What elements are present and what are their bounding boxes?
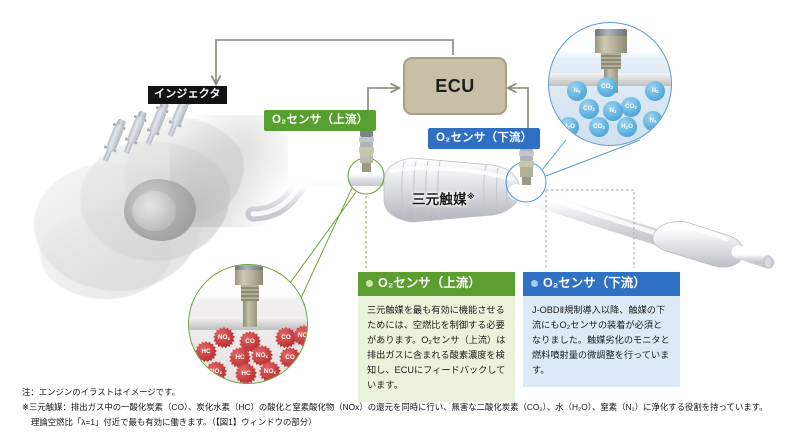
- molecule-label: N2: [650, 118, 657, 124]
- o2-sensor-downstream-label: O₂センサ（下流）: [428, 128, 540, 149]
- molecule-label: NOx: [298, 333, 308, 340]
- molecule-label: HC: [241, 371, 250, 377]
- diagram-canvas: ECU インジェクタ O₂センサ（上流） O₂センサ（下流） 三元触媒※ NOx…: [0, 0, 800, 447]
- molecule-n2: N2: [643, 111, 663, 131]
- molecule-co2: CO2: [597, 77, 617, 97]
- o2-sensor-upstream-graphic: [359, 130, 374, 172]
- molecule-co2: CO2: [621, 97, 641, 117]
- molecule-label: CO: [281, 335, 291, 341]
- bullet-dot-icon: [366, 280, 373, 287]
- callout-upstream-title: O₂センサ（上流）: [378, 277, 481, 290]
- ecu-box: ECU: [403, 57, 507, 115]
- catalyst-label: 三元触媒※: [412, 188, 475, 208]
- molecule-label: HC: [291, 371, 300, 377]
- injector-label: インジェクタ: [148, 86, 227, 104]
- molecule-h2o: H2O: [559, 117, 579, 137]
- callout-o2-downstream: O₂センサ（下流） J-OBDⅡ規制導入以降、触媒の下流にもO₂センサの装着が必…: [523, 272, 680, 387]
- callout-downstream-header: O₂センサ（下流）: [523, 272, 680, 296]
- o2-sensor-upstream-label: O₂センサ（上流）: [264, 110, 376, 131]
- footnotes: 注：エンジンのイラストはイメージです。 ※三元触媒：排出ガス中の一酸化炭素（CO…: [22, 385, 788, 430]
- molecule-label: CO: [285, 355, 295, 361]
- callout-downstream-title: O₂センサ（下流）: [543, 277, 646, 290]
- molecule-label: HC: [201, 349, 210, 355]
- injector-3: [142, 100, 171, 147]
- molecule-label: N2: [652, 88, 659, 94]
- bullet-dot-icon: [531, 280, 538, 287]
- molecule-label: N2: [574, 88, 581, 94]
- inset-downstream-molecules: N2CO2N2CO2CO2N2H2OCO2H2ON2: [548, 22, 672, 146]
- catalyst-ref-mark: ※: [467, 192, 475, 201]
- molecule-label: CO: [245, 339, 255, 345]
- footnote-line-3: 理論空燃比「λ=1」付近で最も有効に働きます。（【図1】ウィンドウの部分）: [22, 415, 788, 430]
- molecule-co2: CO2: [589, 117, 609, 137]
- molecule-nox: NOx: [213, 327, 235, 349]
- molecule-co: CO: [275, 327, 297, 349]
- callout-o2-upstream: O₂センサ（上流） 三元触媒を最も有効に機能させるためには、空燃比を制御する必要…: [358, 272, 515, 402]
- molecule-label: NOx: [218, 335, 230, 342]
- molecule-h2o: H2O: [617, 117, 637, 137]
- inset-upstream-molecules: NOxCOCONOxHCHCNOxCONOxHCNOxHC: [188, 264, 308, 384]
- molecule-n2: N2: [645, 81, 665, 101]
- molecule-label: NOx: [256, 353, 268, 360]
- footnote-line-2: ※三元触媒：排出ガス中の一酸化炭素（CO）、炭化水素（HC）の酸化と窒素酸化物（…: [22, 400, 788, 415]
- molecule-label: H2O: [621, 124, 633, 130]
- callout-upstream-header: O₂センサ（上流）: [358, 272, 515, 296]
- molecule-label: HC: [235, 355, 244, 361]
- molecule-label: NOx: [264, 369, 276, 376]
- molecule-n2: N2: [567, 81, 587, 101]
- molecule-label: CO2: [593, 124, 605, 130]
- molecule-label: N2: [610, 108, 617, 114]
- molecule-label: H2O: [563, 124, 575, 130]
- ecu-label: ECU: [435, 76, 475, 97]
- molecule-label: NOx: [210, 369, 222, 376]
- molecule-co2: CO2: [579, 99, 599, 119]
- molecule-hc: HC: [195, 341, 217, 363]
- molecule-label: CO2: [583, 106, 595, 112]
- molecule-label: CO2: [601, 84, 613, 90]
- molecule-nox: NOx: [205, 361, 227, 383]
- callout-downstream-body: J-OBDⅡ規制導入以降、触媒の下流にもO₂センサの装着が必須となりました。触媒…: [523, 296, 680, 387]
- footnote-line-1: 注：エンジンのイラストはイメージです。: [22, 385, 788, 400]
- molecule-label: CO2: [625, 104, 637, 110]
